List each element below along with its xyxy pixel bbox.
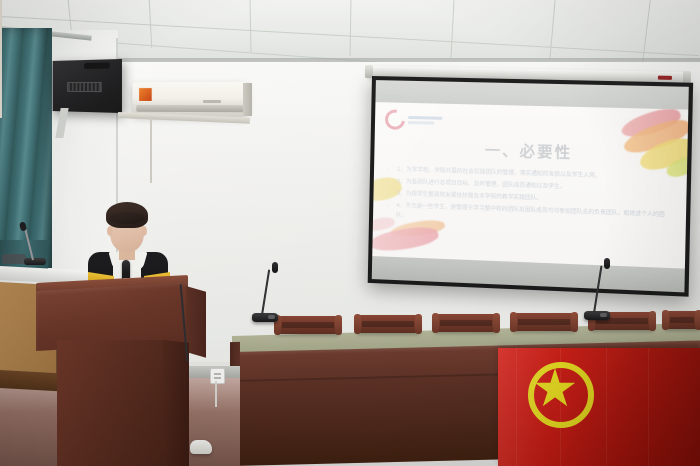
- ac-air-vent: [136, 105, 243, 112]
- microphone-base: [584, 311, 610, 320]
- logo-wordmark: [408, 116, 442, 125]
- outlet-conduit: [215, 381, 217, 407]
- flag-left-edge: [0, 0, 2, 118]
- person-ear-right: [141, 226, 147, 236]
- microphone-button[interactable]: [268, 315, 275, 319]
- chair-slat: [670, 317, 694, 323]
- ac-drain-cable: [150, 117, 152, 183]
- microphone-base: [252, 313, 278, 322]
- conference-room-photo: 一、必要性 1、为学学校、学院开展的社会实践团队的管理，落实通知的发放以及学生入…: [0, 0, 700, 466]
- logo-swoosh-icon: [381, 106, 409, 134]
- presentation-slide: 一、必要性 1、为学学校、学院开展的社会实践团队的管理，落实通知的发放以及学生入…: [372, 102, 688, 269]
- chair-back: [664, 311, 700, 329]
- youth-league-flag: [498, 348, 700, 466]
- ac-brand-sticker: [138, 87, 153, 102]
- person-hair-fringe: [109, 212, 145, 224]
- table-mic-right: [584, 258, 614, 320]
- slide-logo: [385, 109, 443, 131]
- microphone-button[interactable]: [600, 313, 607, 317]
- flag-shading: [498, 348, 700, 466]
- chair-slat: [518, 319, 570, 325]
- podium-side-panel: [186, 286, 206, 358]
- person-ear-left: [107, 226, 113, 236]
- sill-microphone-base: [24, 258, 46, 265]
- table-mic-left: [252, 262, 282, 322]
- power-outlet[interactable]: [210, 368, 225, 384]
- ac-side-panel: [243, 83, 252, 116]
- projection-screen[interactable]: 一、必要性 1、为学学校、学院开展的社会实践团队的管理，落实通知的发放以及学生入…: [368, 76, 693, 297]
- speaker-mount-hardware: [84, 62, 110, 69]
- chair-slat: [440, 320, 492, 326]
- chair-back: [276, 316, 340, 334]
- wall-speaker: [53, 59, 122, 113]
- microphone-gooseneck: [261, 269, 270, 315]
- microphone-head: [604, 258, 610, 269]
- housing-brand-label: [658, 76, 672, 80]
- ac-logo-mark: [203, 100, 221, 103]
- sill-equipment: [2, 254, 26, 264]
- speaker-shoe: [190, 440, 212, 454]
- speaker-grille: [67, 82, 101, 92]
- slide-bullet-list: 1、为学学校、学院开展的社会实践团队的管理，落实通知的发放以及学生入党。 2、为…: [389, 165, 672, 233]
- microphone-head: [272, 262, 278, 273]
- screen-surface: 一、必要性 1、为学学校、学院开展的社会实践团队的管理，落实通知的发放以及学生入…: [372, 80, 689, 292]
- microphone-gooseneck: [593, 265, 602, 313]
- chair-back: [356, 315, 420, 333]
- air-conditioner: [132, 82, 247, 117]
- chair-slat: [282, 322, 334, 328]
- chair-slat: [362, 321, 414, 327]
- podium-column-side: [163, 340, 189, 466]
- chair-back: [512, 313, 576, 331]
- chair-back: [434, 314, 498, 332]
- podium-column: [57, 340, 165, 466]
